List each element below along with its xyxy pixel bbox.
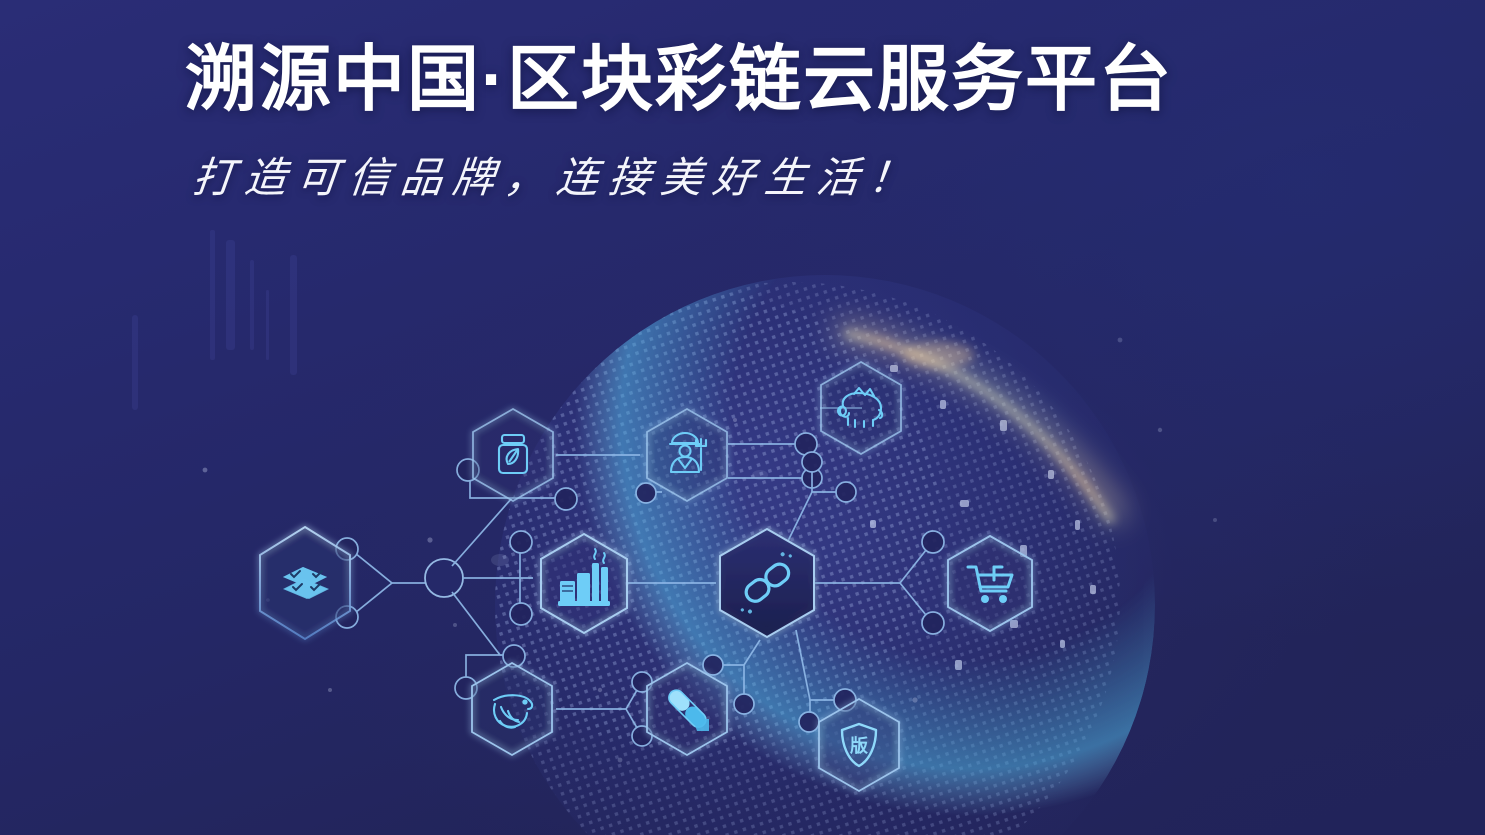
page-title: 溯源中国·区块彩链云服务平台 xyxy=(185,44,1173,116)
hero-banner: 版 溯源中国·区块彩链云服务平台 打造可信品牌，连接美好生活！ xyxy=(0,0,1485,835)
network-hub-node xyxy=(425,559,463,597)
page-subtitle: 打造可信品牌，连接美好生活！ xyxy=(190,144,1176,205)
shield-copyright-label: 版 xyxy=(850,735,868,756)
hero-text-block: 溯源中国·区块彩链云服务平台 打造可信品牌，连接美好生活！ xyxy=(185,44,1173,205)
